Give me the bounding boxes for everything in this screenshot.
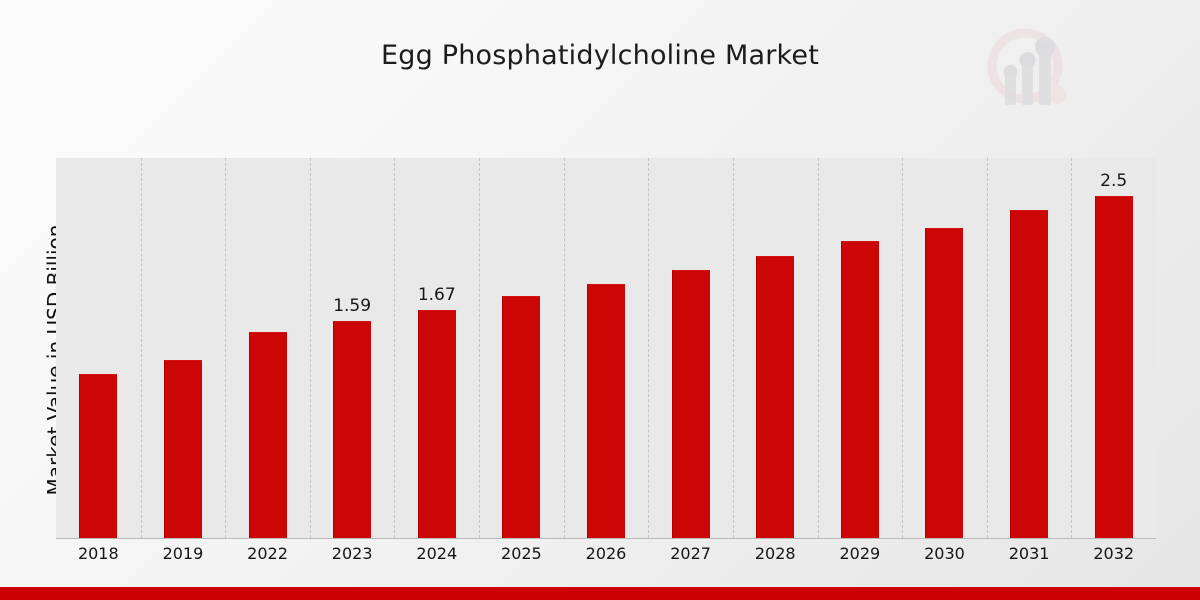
bar-2027[interactable] (672, 270, 710, 538)
gridline (648, 158, 649, 538)
gridline (310, 158, 311, 538)
x-tick-2032: 2032 (1069, 544, 1159, 563)
bar-2028[interactable] (756, 256, 794, 538)
x-tick-2027: 2027 (646, 544, 736, 563)
gridline (818, 158, 819, 538)
x-tick-2018: 2018 (53, 544, 143, 563)
gridline (733, 158, 734, 538)
bar-2019[interactable] (164, 360, 202, 538)
gridline (987, 158, 988, 538)
gridline (479, 158, 480, 538)
bar-2025[interactable] (502, 296, 540, 538)
bar-value-label-2023: 1.59 (312, 296, 392, 316)
x-tick-2024: 2024 (392, 544, 482, 563)
market-research-magnifier-logo (980, 22, 1080, 122)
bar-2029[interactable] (841, 241, 879, 538)
gridline (141, 158, 142, 538)
gridline (225, 158, 226, 538)
bar-2022[interactable] (249, 332, 287, 538)
bar-2032[interactable] (1095, 196, 1133, 538)
x-tick-2030: 2030 (899, 544, 989, 563)
gridline (1071, 158, 1072, 538)
bar-2030[interactable] (925, 228, 963, 538)
bar-2026[interactable] (587, 284, 625, 538)
bar-value-label-2032: 2.5 (1074, 171, 1154, 191)
x-tick-2022: 2022 (223, 544, 313, 563)
x-tick-2026: 2026 (561, 544, 651, 563)
gridline (394, 158, 395, 538)
x-tick-2029: 2029 (815, 544, 905, 563)
x-tick-2023: 2023 (307, 544, 397, 563)
chart-figure: Egg Phosphatidylcholine Market Market Va… (0, 0, 1200, 600)
plot-area (56, 158, 1156, 539)
bar-value-label-2024: 1.67 (397, 285, 477, 305)
footer-strip (0, 587, 1200, 600)
bar-2018[interactable] (79, 374, 117, 538)
gridline (564, 158, 565, 538)
gridline (902, 158, 903, 538)
bar-2023[interactable] (333, 321, 371, 538)
x-tick-2031: 2031 (984, 544, 1074, 563)
x-tick-2025: 2025 (476, 544, 566, 563)
x-tick-2019: 2019 (138, 544, 228, 563)
bar-2024[interactable] (418, 310, 456, 538)
x-tick-2028: 2028 (730, 544, 820, 563)
bar-2031[interactable] (1010, 210, 1048, 538)
